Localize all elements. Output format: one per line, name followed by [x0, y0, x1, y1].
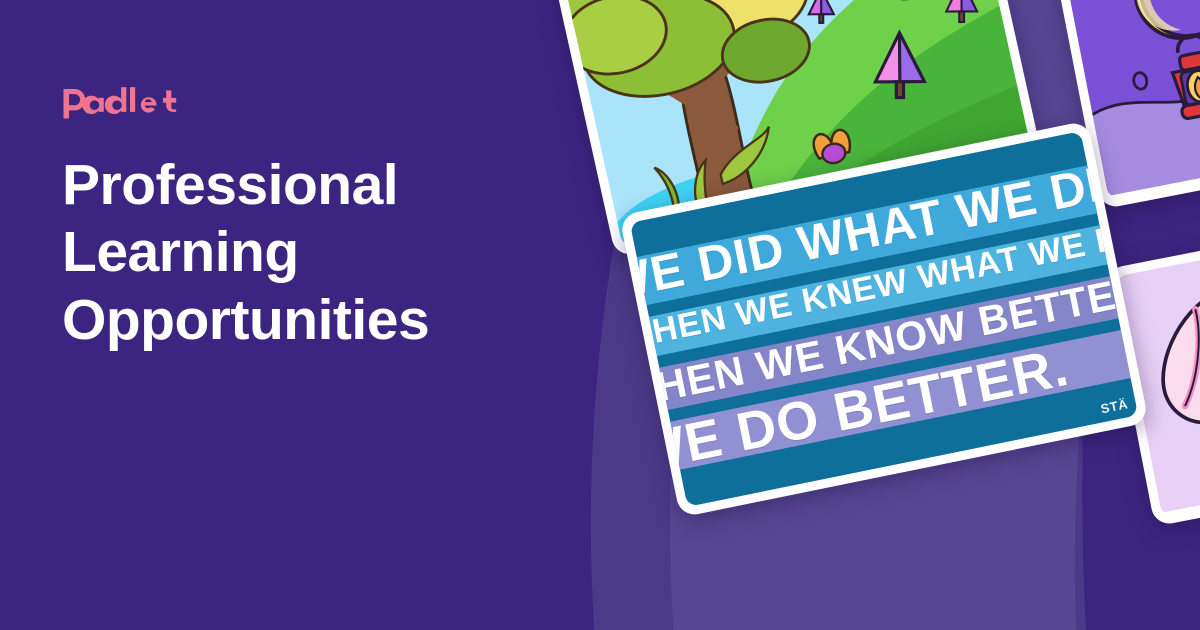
page-title: Professional Learning Opportunities — [62, 152, 532, 354]
padlet-logo[interactable] — [62, 86, 532, 120]
headline-block: Professional Learning Opportunities — [62, 86, 532, 354]
promo-banner: Professional Learning Opportunities — [0, 0, 1200, 630]
